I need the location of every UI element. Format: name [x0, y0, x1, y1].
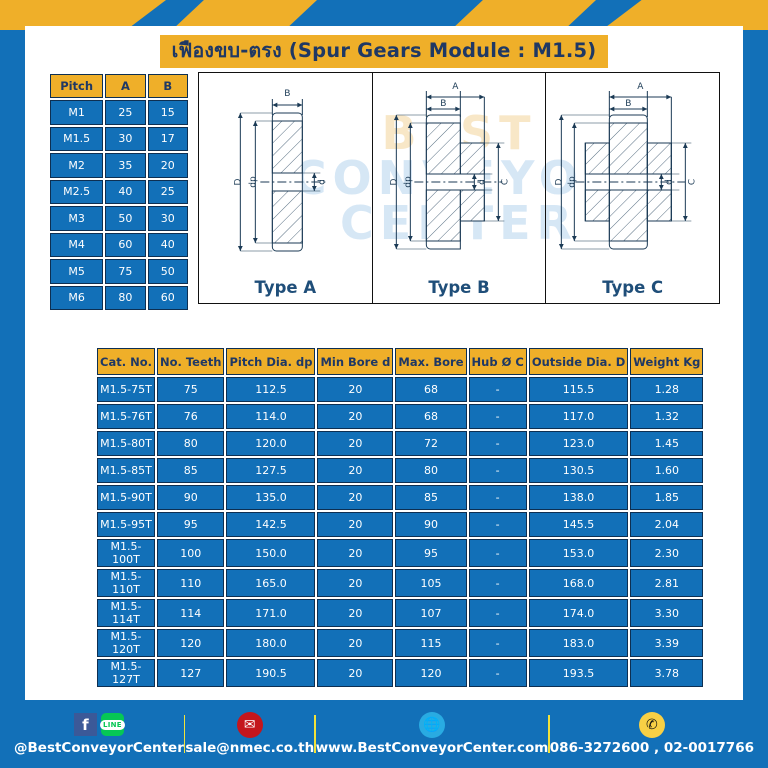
spec-cell: 168.0	[529, 569, 628, 597]
footer-phone-label: 086-3272600 , 02-0017766	[550, 740, 754, 756]
pitch-cell: 60	[148, 286, 188, 311]
pitch-table-row: M1.53017	[50, 127, 188, 152]
spec-cell: 115	[395, 629, 466, 657]
spec-cell: -	[469, 377, 527, 402]
pitch-table-row: M35030	[50, 206, 188, 231]
type-c-label: Type C	[546, 278, 719, 297]
spec-cell: 85	[157, 458, 225, 483]
type-b-label: Type B	[373, 278, 546, 297]
pitch-table-header-row: Pitch A B	[50, 74, 188, 98]
spec-cell: 3.30	[630, 599, 703, 627]
spec-cell: 20	[317, 404, 393, 429]
svg-text:C: C	[500, 179, 510, 185]
spec-cell: 135.0	[226, 485, 315, 510]
spec-table-wrap: Cat. No.No. TeethPitch Dia. dpMin Bore d…	[95, 346, 675, 689]
spec-cell: -	[469, 539, 527, 567]
spec-cell: 145.5	[529, 512, 628, 537]
spec-cell: 1.45	[630, 431, 703, 456]
type-b-svg: A B D dp d C	[373, 75, 546, 277]
spec-cell: 127.5	[226, 458, 315, 483]
spec-col-header: Max. Bore	[395, 348, 466, 375]
pitch-cell: M3	[50, 206, 103, 231]
pitch-cell: 30	[148, 206, 188, 231]
page-title-wrap: เฟืองขบ-ตรง (Spur Gears Module : M1.5)	[25, 26, 743, 68]
spec-col-header: Hub Ø C	[469, 348, 527, 375]
spec-cell: 130.5	[529, 458, 628, 483]
spec-cell: M1.5-80T	[97, 431, 155, 456]
phone-icon[interactable]: ✆	[639, 712, 665, 738]
spec-cell: -	[469, 485, 527, 510]
spec-cell: 1.32	[630, 404, 703, 429]
spec-cell: 127	[157, 659, 225, 687]
spec-cell: 85	[395, 485, 466, 510]
pitch-cell: M4	[50, 233, 103, 258]
svg-text:dp: dp	[248, 176, 258, 188]
pitch-cell: M1.5	[50, 127, 103, 152]
pitch-cell: M6	[50, 286, 103, 311]
pitch-cell: 15	[148, 100, 188, 125]
spec-cell: 20	[317, 431, 393, 456]
pitch-cell: 30	[105, 127, 145, 152]
spec-cell: 110	[157, 569, 225, 597]
pitch-table-row: M2.54025	[50, 180, 188, 205]
spec-cell: -	[469, 512, 527, 537]
spec-table: Cat. No.No. TeethPitch Dia. dpMin Bore d…	[95, 346, 705, 689]
pitch-cell: 40	[105, 180, 145, 205]
spec-cell: 114	[157, 599, 225, 627]
spec-cell: 105	[395, 569, 466, 597]
table-row: M1.5-127T127190.520120-193.53.78	[97, 659, 703, 687]
spec-col-header: Pitch Dia. dp	[226, 348, 315, 375]
spec-cell: 115.5	[529, 377, 628, 402]
footer-email-label: sale@nmec.co.th	[185, 740, 314, 756]
spec-cell: 180.0	[226, 629, 315, 657]
spec-cell: 3.39	[630, 629, 703, 657]
spec-cell: M1.5-127T	[97, 659, 155, 687]
svg-text:C: C	[688, 179, 698, 185]
table-row: M1.5-114T114171.020107-174.03.30	[97, 599, 703, 627]
table-row: M1.5-80T80120.02072-123.01.45	[97, 431, 703, 456]
spec-col-header: Cat. No.	[97, 348, 155, 375]
table-row: M1.5-90T90135.02085-138.01.85	[97, 485, 703, 510]
globe-icon[interactable]: 🌐	[419, 712, 445, 738]
top-section: Pitch A B M12515M1.53017M23520M2.54025M3…	[48, 72, 720, 304]
spec-cell: M1.5-110T	[97, 569, 155, 597]
spec-cell: 20	[317, 458, 393, 483]
spec-cell: 190.5	[226, 659, 315, 687]
svg-text:B: B	[440, 99, 446, 109]
footer-item-phone[interactable]: ✆ 086-3272600 , 02-0017766	[550, 713, 754, 756]
spec-cell: 80	[157, 431, 225, 456]
spec-cell: 165.0	[226, 569, 315, 597]
spec-cell: 120	[157, 629, 225, 657]
spec-cell: 120.0	[226, 431, 315, 456]
spec-cell: 174.0	[529, 599, 628, 627]
pitch-cell: 17	[148, 127, 188, 152]
spec-cell: 20	[317, 539, 393, 567]
spec-cell: M1.5-120T	[97, 629, 155, 657]
gear-drawings-panel: BEST CONVEYOR CENTER	[198, 72, 720, 304]
spec-cell: -	[469, 404, 527, 429]
spec-cell: 117.0	[529, 404, 628, 429]
spec-cell: M1.5-76T	[97, 404, 155, 429]
spec-cell: 1.85	[630, 485, 703, 510]
table-row: M1.5-76T76114.02068-117.01.32	[97, 404, 703, 429]
spec-col-header: Weight Kg	[630, 348, 703, 375]
pitch-cell: 40	[148, 233, 188, 258]
spec-cell: 80	[395, 458, 466, 483]
footer-item-website[interactable]: 🌐 www.BestConveyorCenter.com	[316, 713, 549, 756]
page-title: เฟืองขบ-ตรง (Spur Gears Module : M1.5)	[160, 35, 609, 68]
spec-cell: 120	[395, 659, 466, 687]
svg-text:D: D	[389, 178, 399, 185]
table-row: M1.5-110T110165.020105-168.02.81	[97, 569, 703, 597]
svg-text:dp: dp	[403, 176, 413, 188]
svg-text:B: B	[284, 89, 290, 99]
spec-cell: 68	[395, 377, 466, 402]
pitch-table-row: M12515	[50, 100, 188, 125]
spec-cell: -	[469, 569, 527, 597]
drawing-type-a: B D dp d Type A	[199, 73, 372, 303]
facebook-icon[interactable]: f	[74, 713, 97, 736]
pitch-cell: 75	[105, 259, 145, 284]
svg-text:dp: dp	[568, 176, 578, 188]
spec-cell: M1.5-90T	[97, 485, 155, 510]
spec-cell: 72	[395, 431, 466, 456]
pitch-cell: M1	[50, 100, 103, 125]
pitch-cell: 50	[148, 259, 188, 284]
pitch-cell: 35	[105, 153, 145, 178]
pitch-col-pitch: Pitch	[50, 74, 103, 98]
spec-cell: 20	[317, 377, 393, 402]
pitch-cell: 80	[105, 286, 145, 311]
type-a-label: Type A	[199, 278, 372, 297]
line-icon-label: LINE	[100, 720, 125, 730]
svg-text:d: d	[477, 179, 487, 185]
svg-text:d: d	[317, 179, 327, 185]
spec-cell: 68	[395, 404, 466, 429]
spec-cell: -	[469, 431, 527, 456]
spec-cell: 2.81	[630, 569, 703, 597]
spec-cell: -	[469, 458, 527, 483]
spec-cell: 20	[317, 599, 393, 627]
spec-cell: 114.0	[226, 404, 315, 429]
spec-cell: 112.5	[226, 377, 315, 402]
svg-text:B: B	[626, 99, 632, 109]
spec-cell: 183.0	[529, 629, 628, 657]
spec-cell: 76	[157, 404, 225, 429]
spec-cell: M1.5-95T	[97, 512, 155, 537]
pitch-cell: 50	[105, 206, 145, 231]
pitch-cell: 25	[105, 100, 145, 125]
spec-cell: M1.5-114T	[97, 599, 155, 627]
spec-cell: 150.0	[226, 539, 315, 567]
svg-text:D: D	[555, 178, 565, 185]
footer-facebook-label: @BestConveyorCenter	[14, 740, 184, 756]
spec-cell: 1.28	[630, 377, 703, 402]
spec-cell: 2.04	[630, 512, 703, 537]
spec-cell: -	[469, 659, 527, 687]
table-row: M1.5-95T95142.52090-145.52.04	[97, 512, 703, 537]
svg-text:A: A	[638, 82, 645, 92]
email-icon[interactable]: ✉	[237, 712, 263, 738]
spec-cell: 95	[395, 539, 466, 567]
spec-cell: -	[469, 599, 527, 627]
type-c-svg: A B D dp d C	[546, 75, 719, 277]
spec-cell: M1.5-75T	[97, 377, 155, 402]
spec-cell: 153.0	[529, 539, 628, 567]
pitch-cell: 60	[105, 233, 145, 258]
footer-item-facebook[interactable]: f LINE @BestConveyorCenter	[14, 713, 184, 756]
spec-cell: M1.5-100T	[97, 539, 155, 567]
table-row: M1.5-100T100150.02095-153.02.30	[97, 539, 703, 567]
pitch-cell: M2.5	[50, 180, 103, 205]
spec-col-header: Outside Dia. D	[529, 348, 628, 375]
pitch-table: Pitch A B M12515M1.53017M23520M2.54025M3…	[48, 72, 190, 312]
svg-text:D: D	[233, 178, 243, 185]
pitch-table-row: M23520	[50, 153, 188, 178]
pitch-cell: 25	[148, 180, 188, 205]
spec-cell: 107	[395, 599, 466, 627]
spec-cell: M1.5-85T	[97, 458, 155, 483]
type-a-svg: B D dp d	[199, 75, 372, 277]
pitch-table-row: M57550	[50, 259, 188, 284]
spec-table-header-row: Cat. No.No. TeethPitch Dia. dpMin Bore d…	[97, 348, 703, 375]
svg-text:d: d	[665, 179, 675, 185]
pitch-cell: M2	[50, 153, 103, 178]
pitch-col-a: A	[105, 74, 145, 98]
spec-cell: 1.60	[630, 458, 703, 483]
spec-cell: 20	[317, 485, 393, 510]
table-row: M1.5-85T85127.52080-130.51.60	[97, 458, 703, 483]
pitch-cell: M5	[50, 259, 103, 284]
footer-item-email[interactable]: ✉ sale@nmec.co.th	[185, 713, 314, 756]
spec-cell: 2.30	[630, 539, 703, 567]
spec-col-header: Min Bore d	[317, 348, 393, 375]
drawing-type-b: A B D dp d C Type B	[373, 73, 546, 303]
pitch-table-row: M46040	[50, 233, 188, 258]
footer-contact-bar: f LINE @BestConveyorCenter ✉ sale@nmec.c…	[0, 700, 768, 768]
footer-website-label: www.BestConveyorCenter.com	[316, 740, 549, 756]
svg-text:A: A	[452, 82, 459, 92]
spec-cell: 90	[395, 512, 466, 537]
spec-cell: 138.0	[529, 485, 628, 510]
table-row: M1.5-120T120180.020115-183.03.39	[97, 629, 703, 657]
spec-col-header: No. Teeth	[157, 348, 225, 375]
spec-cell: -	[469, 629, 527, 657]
spec-cell: 20	[317, 512, 393, 537]
spec-cell: 75	[157, 377, 225, 402]
spec-cell: 95	[157, 512, 225, 537]
drawing-type-c: A B D dp d C Type C	[546, 73, 719, 303]
spec-cell: 171.0	[226, 599, 315, 627]
pitch-cell: 20	[148, 153, 188, 178]
spec-cell: 142.5	[226, 512, 315, 537]
pitch-col-b: B	[148, 74, 188, 98]
spec-cell: 20	[317, 569, 393, 597]
spec-cell: 20	[317, 659, 393, 687]
content-card: เฟืองขบ-ตรง (Spur Gears Module : M1.5) P…	[25, 26, 743, 700]
spec-cell: 123.0	[529, 431, 628, 456]
spec-cell: 193.5	[529, 659, 628, 687]
spec-cell: 90	[157, 485, 225, 510]
line-icon[interactable]: LINE	[101, 713, 124, 736]
spec-cell: 100	[157, 539, 225, 567]
spec-cell: 20	[317, 629, 393, 657]
pitch-table-row: M68060	[50, 286, 188, 311]
table-row: M1.5-75T75112.52068-115.51.28	[97, 377, 703, 402]
spec-cell: 3.78	[630, 659, 703, 687]
